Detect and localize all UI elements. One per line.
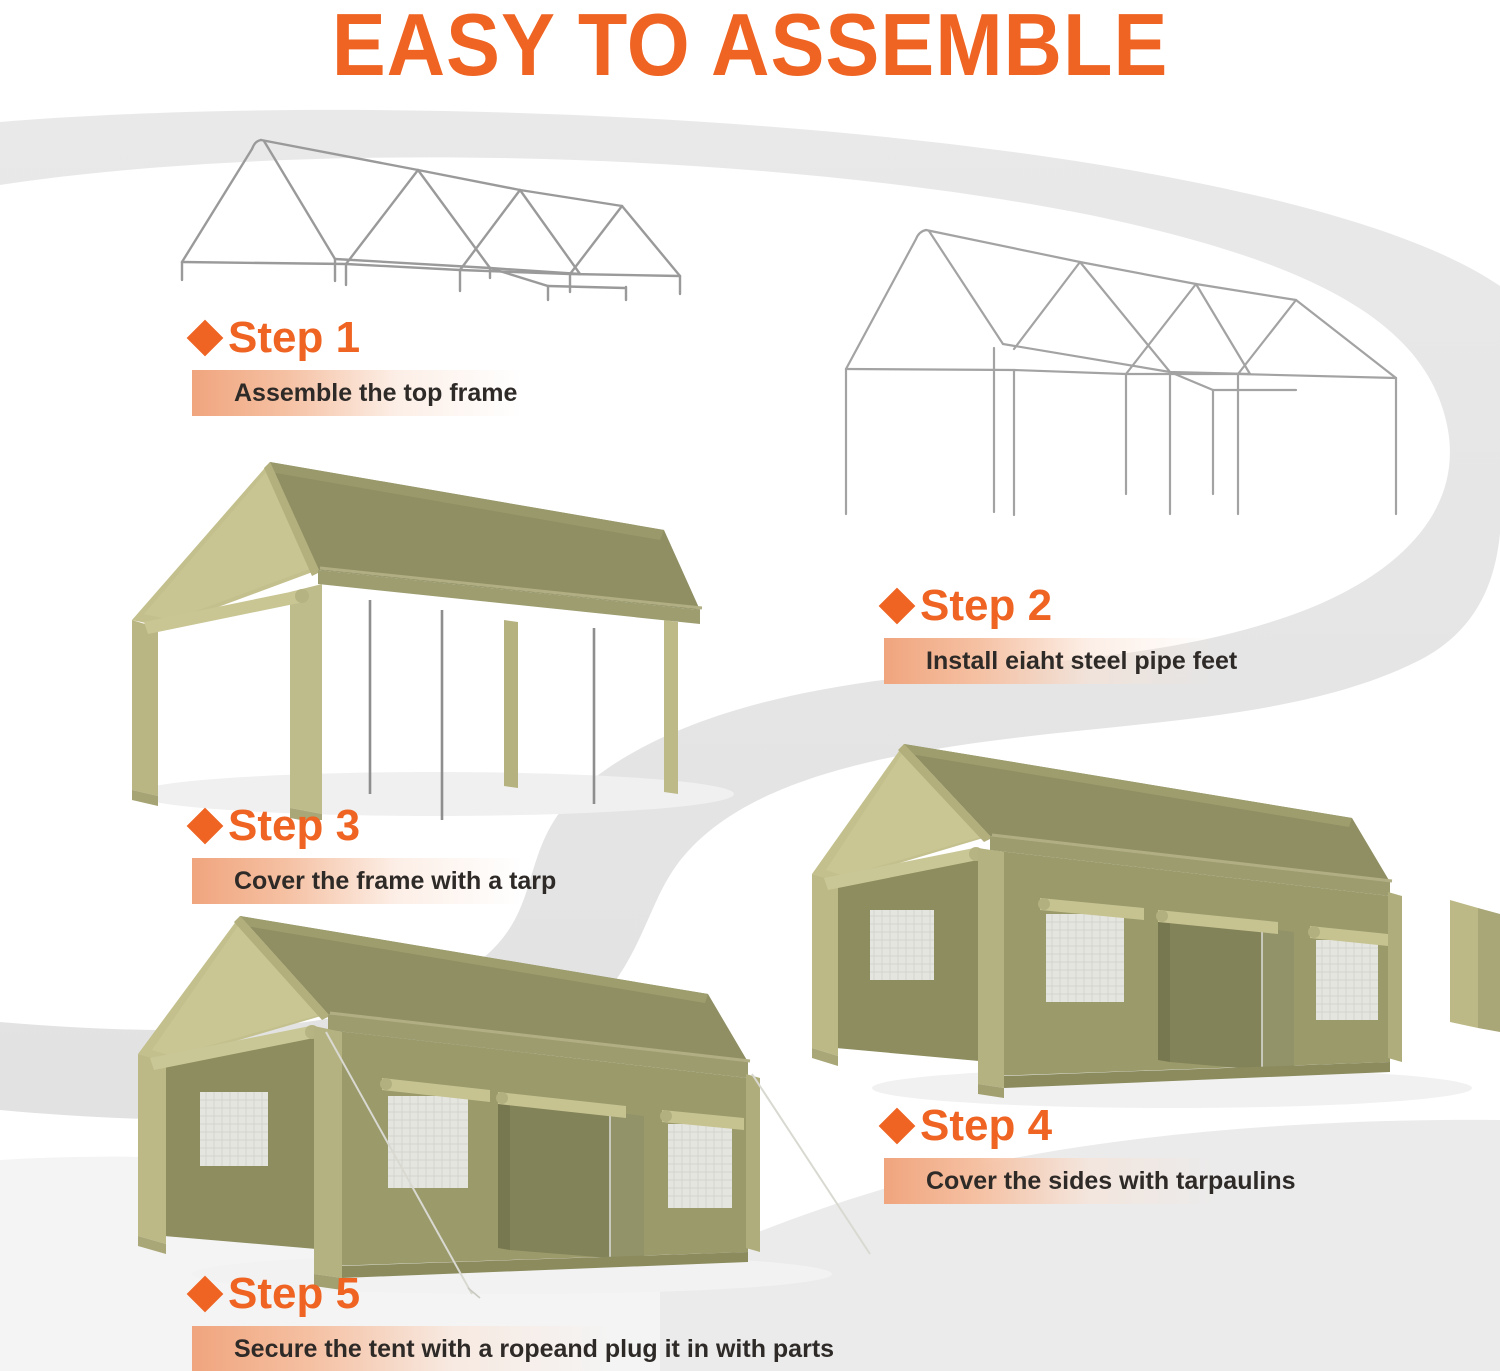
diamond-icon [187,320,224,357]
step-3-label: Step 3 [228,804,360,848]
diamond-icon [187,1276,224,1313]
step-block-4: Step 4 Cover the sides with tarpaulins [884,1100,1296,1204]
step-1-label: Step 1 [228,316,360,360]
illustration-tent-with-ropes [112,902,872,1302]
step-2-heading: Step 2 [884,580,1237,632]
step-1-heading: Step 1 [192,312,517,364]
step-2-label: Step 2 [920,584,1052,628]
infographic-page: EASY TO ASSEMBLE [0,0,1500,1371]
step-3-description-row: Cover the frame with a tarp [192,858,556,904]
step-2-description: Install eiaht steel pipe feet [884,647,1237,676]
step-4-label: Step 4 [920,1104,1052,1148]
step-5-label: Step 5 [228,1272,360,1316]
step-1-description: Assemble the top frame [192,379,517,408]
step-2-description-row: Install eiaht steel pipe feet [884,638,1237,684]
diamond-icon [187,808,224,845]
step-block-3: Step 3 Cover the frame with a tarp [192,800,556,904]
step-3-description: Cover the frame with a tarp [192,867,556,896]
step-4-description: Cover the sides with tarpaulins [884,1167,1296,1196]
step-1-description-row: Assemble the top frame [192,370,517,416]
step-block-5: Step 5 Secure the tent with a ropeand pl… [192,1268,834,1371]
step-5-description: Secure the tent with a ropeand plug it i… [192,1335,834,1364]
step-4-heading: Step 4 [884,1100,1296,1152]
step-3-heading: Step 3 [192,800,556,852]
illustration-tent-sliver [1420,900,1500,1060]
step-block-2: Step 2 Install eiaht steel pipe feet [884,580,1237,684]
step-block-1: Step 1 Assemble the top frame [192,312,517,416]
illustration-frame-with-legs [818,222,1443,517]
page-title: EASY TO ASSEMBLE [60,0,1440,96]
step-4-description-row: Cover the sides with tarpaulins [884,1158,1296,1204]
step-5-heading: Step 5 [192,1268,834,1320]
diamond-icon [879,1108,916,1145]
illustration-enclosed-tent [792,732,1492,1112]
diamond-icon [879,588,916,625]
illustration-top-frame [160,128,740,313]
illustration-carport-tarp [104,442,744,820]
step-5-description-row: Secure the tent with a ropeand plug it i… [192,1326,834,1371]
